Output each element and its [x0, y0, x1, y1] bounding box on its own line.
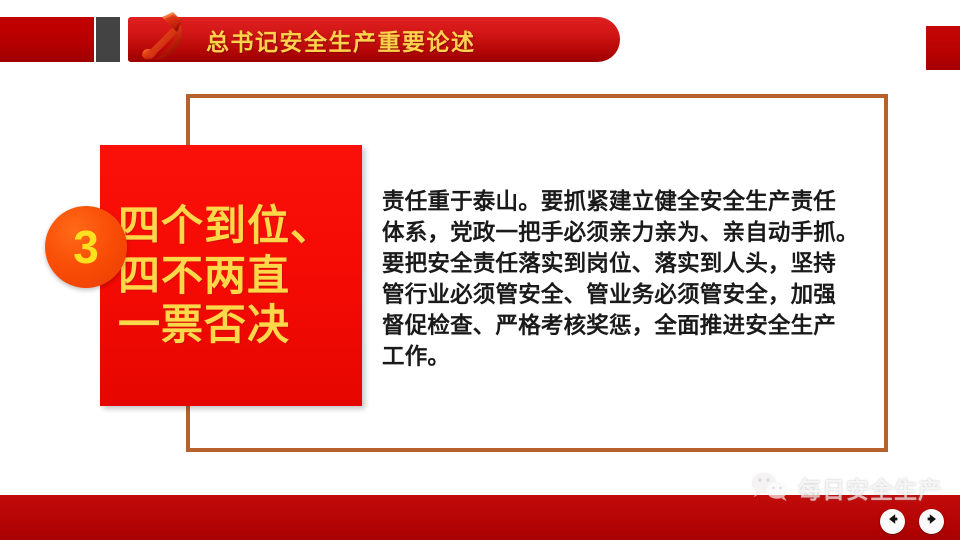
arrow-right-icon [925, 512, 939, 531]
next-slide-button[interactable] [919, 509, 944, 534]
wechat-logo-icon [750, 471, 790, 506]
section-title-line-2: 四不两直 [118, 252, 362, 299]
body-line-6: 工作。 [382, 341, 882, 372]
header-title-banner: 总书记安全生产重要论述 [128, 17, 620, 62]
section-title-lines: 四个到位、 四不两直 一票否决 [100, 202, 362, 348]
watermark-text: 每日安全生产 [798, 471, 942, 505]
slide-navigation [880, 509, 944, 534]
body-paragraph: 责任重于泰山。要抓紧建立健全安全生产责任 体系，党政一把手必须亲力亲为、亲自动手… [382, 186, 882, 372]
prev-slide-button[interactable] [880, 509, 905, 534]
header-top-right-block [926, 26, 960, 70]
header-left-red-block [0, 17, 94, 62]
header-title-text: 总书记安全生产重要论述 [206, 23, 476, 57]
presentation-slide: 总书记安全生产重要论述 [0, 0, 960, 540]
body-line-3: 要把安全责任落实到岗位、落实到人头，坚持 [382, 248, 882, 279]
body-line-2: 体系，党政一把手必须亲力亲为、亲自动手抓。 [382, 217, 882, 248]
section-title-line-3: 一票否决 [118, 301, 362, 348]
body-line-5: 督促检查、严格考核奖惩，全面推进安全生产 [382, 310, 882, 341]
slide-header: 总书记安全生产重要论述 [0, 0, 960, 80]
watermark: 每日安全生产 [750, 470, 942, 506]
section-title-card: 四个到位、 四不两直 一票否决 [100, 145, 362, 406]
header-left-gray-block [96, 17, 120, 62]
section-number-badge: 3 [45, 206, 127, 288]
section-title-line-1: 四个到位、 [118, 202, 362, 249]
section-number-value: 3 [73, 224, 99, 270]
body-line-1: 责任重于泰山。要抓紧建立健全安全生产责任 [382, 186, 882, 217]
arrow-left-icon [886, 512, 900, 531]
cpc-hammer-sickle-emblem-icon [132, 10, 194, 68]
body-line-4: 管行业必须管安全、管业务必须管安全，加强 [382, 279, 882, 310]
